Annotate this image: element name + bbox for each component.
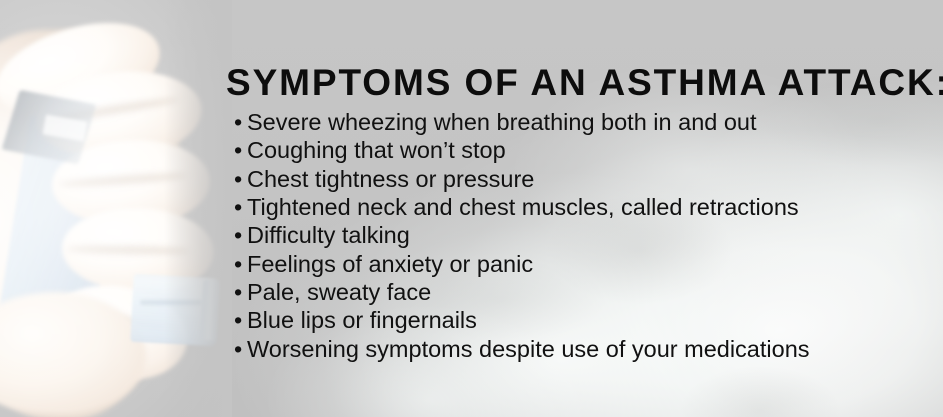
list-item: • Difficulty talking bbox=[234, 221, 810, 249]
list-item-label: Pale, sweaty face bbox=[247, 279, 431, 305]
bullet-icon: • bbox=[234, 250, 242, 278]
bullet-icon: • bbox=[234, 193, 242, 221]
bullet-icon: • bbox=[234, 221, 242, 249]
list-item-label: Feelings of anxiety or panic bbox=[247, 251, 533, 277]
list-item: • Severe wheezing when breathing both in… bbox=[234, 108, 810, 136]
list-item-label: Tightened neck and chest muscles, called… bbox=[247, 194, 799, 220]
list-item-label: Severe wheezing when breathing both in a… bbox=[247, 109, 757, 135]
asthma-symptoms-poster: SYMPTOMS OF AN ASTHMA ATTACK: • Severe w… bbox=[0, 0, 943, 417]
page-title: SYMPTOMS OF AN ASTHMA ATTACK: bbox=[226, 64, 943, 101]
list-item: • Tightened neck and chest muscles, call… bbox=[234, 193, 810, 221]
list-item-label: Worsening symptoms despite use of your m… bbox=[247, 336, 810, 362]
bullet-icon: • bbox=[234, 278, 242, 306]
list-item: • Coughing that won’t stop bbox=[234, 136, 810, 164]
bullet-icon: • bbox=[234, 136, 242, 164]
bullet-icon: • bbox=[234, 335, 242, 363]
list-item-label: Blue lips or fingernails bbox=[247, 307, 477, 333]
bullet-icon: • bbox=[234, 165, 242, 193]
list-item: • Blue lips or fingernails bbox=[234, 306, 810, 334]
list-item: • Chest tightness or pressure bbox=[234, 165, 810, 193]
list-item: • Worsening symptoms despite use of your… bbox=[234, 335, 810, 363]
text-content: SYMPTOMS OF AN ASTHMA ATTACK: • Severe w… bbox=[0, 0, 943, 417]
list-item-label: Difficulty talking bbox=[247, 222, 410, 248]
symptom-list: • Severe wheezing when breathing both in… bbox=[234, 108, 810, 363]
bullet-icon: • bbox=[234, 108, 242, 136]
bullet-icon: • bbox=[234, 306, 242, 334]
list-item: • Pale, sweaty face bbox=[234, 278, 810, 306]
list-item-label: Coughing that won’t stop bbox=[247, 137, 506, 163]
list-item-label: Chest tightness or pressure bbox=[247, 166, 534, 192]
list-item: • Feelings of anxiety or panic bbox=[234, 250, 810, 278]
